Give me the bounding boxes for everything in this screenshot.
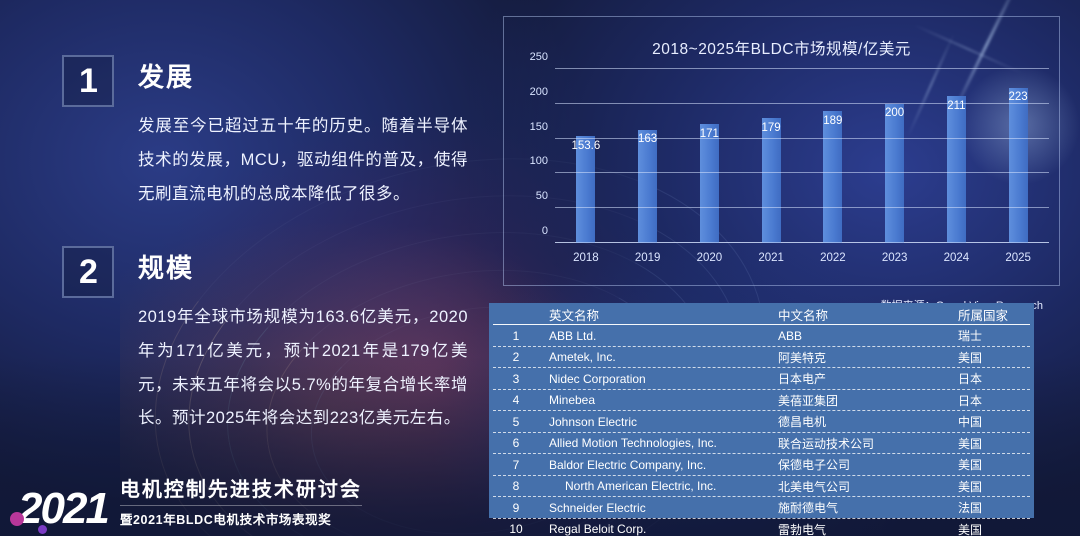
top-companies-table: 英文名称 中文名称 所属国家 1ABB Ltd.ABB瑞士2Ametek, In… bbox=[489, 303, 1034, 518]
cell-chinese-name: 联合运动技术公司 bbox=[778, 435, 958, 452]
chart-bar-group: 2002023 bbox=[867, 69, 921, 243]
content-column: 1 发展 发展至今已超过五十年的历史。随着半导体技术的发展，MCU，驱动组件的普… bbox=[0, 0, 480, 536]
chart-bar-group: 2232025 bbox=[991, 69, 1045, 243]
chart-y-tick-label: 100 bbox=[530, 155, 548, 167]
chart-y-tick-label: 0 bbox=[542, 225, 548, 237]
logo-year-text: 2021 bbox=[18, 484, 108, 533]
chart-title: 2018~2025年BLDC市场规模/亿美元 bbox=[504, 37, 1059, 59]
chart-bar bbox=[576, 136, 595, 243]
cell-chinese-name: 北美电气公司 bbox=[778, 478, 958, 495]
cell-country: 中国 bbox=[958, 413, 1028, 430]
table-row: 6Allied Motion Technologies, Inc.联合运动技术公… bbox=[489, 433, 1034, 455]
chart-bar-value-label: 163 bbox=[638, 133, 657, 145]
cell-no: 7 bbox=[495, 458, 537, 472]
chart-x-tick-label: 2018 bbox=[573, 252, 599, 264]
chart-bar-value-label: 179 bbox=[762, 122, 781, 134]
bldc-market-size-chart: 2018~2025年BLDC市场规模/亿美元 153.6201816320191… bbox=[503, 16, 1060, 286]
table-row: 1ABB Ltd.ABB瑞士 bbox=[489, 325, 1034, 347]
cell-chinese-name: 美蓓亚集团 bbox=[778, 392, 958, 409]
section-text-1: 发展至今已超过五十年的历史。随着半导体技术的发展，MCU，驱动组件的普及，使得无… bbox=[138, 110, 468, 211]
cell-country: 法国 bbox=[958, 499, 1028, 516]
chart-bar-value-label: 189 bbox=[823, 115, 842, 127]
cell-english-name: Ametek, Inc. bbox=[537, 350, 778, 364]
cell-country: 日本 bbox=[958, 370, 1028, 387]
chart-bar-group: 1712020 bbox=[682, 69, 736, 243]
cell-no: 8 bbox=[495, 479, 537, 493]
logo-year: 2021 bbox=[18, 488, 108, 530]
chart-bar-group: 1632019 bbox=[620, 69, 674, 243]
cell-no: 3 bbox=[495, 372, 537, 386]
chart-bar-group: 1892022 bbox=[806, 69, 860, 243]
chart-bar bbox=[947, 96, 966, 243]
chart-x-tick-label: 2022 bbox=[820, 252, 846, 264]
chart-x-tick-label: 2024 bbox=[944, 252, 970, 264]
logo-dot-icon-2 bbox=[38, 525, 47, 534]
table-row: 3Nidec Corporation日本电产日本 bbox=[489, 368, 1034, 390]
chart-x-tick-label: 2023 bbox=[882, 252, 908, 264]
cell-chinese-name: 保德电子公司 bbox=[778, 456, 958, 473]
cell-no: 9 bbox=[495, 501, 537, 515]
chart-x-tick-label: 2020 bbox=[697, 252, 723, 264]
cell-english-name: ABB Ltd. bbox=[537, 329, 778, 343]
cell-english-name: Allied Motion Technologies, Inc. bbox=[537, 436, 778, 450]
cell-chinese-name: 德昌电机 bbox=[778, 413, 958, 430]
chart-bar-group: 2112024 bbox=[929, 69, 983, 243]
cell-chinese-name: 雷勃电气 bbox=[778, 521, 958, 536]
chart-bar bbox=[823, 111, 842, 243]
section-block-1: 1 发展 发展至今已超过五十年的历史。随着半导体技术的发展，MCU，驱动组件的普… bbox=[62, 55, 468, 211]
chart-bar-value-label: 211 bbox=[947, 100, 965, 112]
cell-country: 日本 bbox=[958, 392, 1028, 409]
section-number-badge-1: 1 bbox=[62, 55, 114, 107]
table-row: 10Regal Beloit Corp.雷勃电气美国 bbox=[489, 519, 1034, 536]
cell-english-name: Minebea bbox=[537, 393, 778, 407]
cell-chinese-name: 施耐德电气 bbox=[778, 499, 958, 516]
cell-country: 美国 bbox=[958, 521, 1028, 536]
cell-country: 美国 bbox=[958, 349, 1028, 366]
chart-bar bbox=[700, 124, 719, 243]
table-row: 5Johnson Electric德昌电机中国 bbox=[489, 411, 1034, 433]
section-heading-1: 发展 bbox=[138, 57, 468, 94]
header-english-name: 英文名称 bbox=[537, 305, 778, 324]
table-row: 9Schneider Electric施耐德电气法国 bbox=[489, 497, 1034, 519]
section-text-2: 2019年全球市场规模为163.6亿美元，2020年为171亿美元，预计2021… bbox=[138, 301, 468, 436]
chart-gridline: 0 bbox=[555, 242, 1049, 243]
table-body: 1ABB Ltd.ABB瑞士2Ametek, Inc.阿美特克美国3Nidec … bbox=[489, 325, 1034, 536]
logo-subtitle: 暨2021年BLDC电机技术市场表现奖 bbox=[120, 505, 362, 528]
logo-text-block: 电机控制先进技术研讨会 暨2021年BLDC电机技术市场表现奖 bbox=[120, 478, 362, 530]
chart-y-tick-label: 50 bbox=[536, 190, 548, 202]
section-heading-2: 规模 bbox=[138, 248, 468, 285]
logo-title: 电机控制先进技术研讨会 bbox=[120, 478, 362, 502]
chart-bar bbox=[638, 130, 657, 243]
cell-english-name: Baldor Electric Company, Inc. bbox=[537, 458, 778, 472]
chart-bar bbox=[1009, 88, 1028, 243]
chart-gridline: 200 bbox=[555, 103, 1049, 104]
cell-no: 5 bbox=[495, 415, 537, 429]
section-block-2: 2 规模 2019年全球市场规模为163.6亿美元，2020年为171亿美元，预… bbox=[62, 246, 468, 436]
header-chinese-name: 中文名称 bbox=[778, 305, 958, 324]
chart-gridline: 50 bbox=[555, 207, 1049, 208]
chart-plot-area: 153.620181632019171202017920211892022200… bbox=[555, 69, 1049, 243]
cell-chinese-name: ABB bbox=[778, 329, 958, 343]
cell-no: 6 bbox=[495, 436, 537, 450]
cell-english-name: Johnson Electric bbox=[537, 415, 778, 429]
chart-y-tick-label: 250 bbox=[530, 51, 548, 63]
cell-english-name: Regal Beloit Corp. bbox=[537, 522, 778, 536]
table-header-row: 英文名称 中文名称 所属国家 bbox=[489, 303, 1034, 325]
cell-country: 瑞士 bbox=[958, 327, 1028, 344]
section-number-1: 1 bbox=[79, 64, 97, 98]
cell-english-name: North American Electric, Inc. bbox=[537, 479, 778, 493]
logo-dot-icon-1 bbox=[10, 512, 24, 526]
section-body-1: 发展 发展至今已超过五十年的历史。随着半导体技术的发展，MCU，驱动组件的普及，… bbox=[138, 55, 468, 211]
cell-country: 美国 bbox=[958, 478, 1028, 495]
cell-no: 2 bbox=[495, 350, 537, 364]
table-row: 4Minebea美蓓亚集团日本 bbox=[489, 390, 1034, 412]
chart-bar-group: 153.62018 bbox=[559, 69, 613, 243]
chart-gridline: 250 bbox=[555, 68, 1049, 69]
chart-bar bbox=[885, 104, 904, 243]
event-logo: 2021 电机控制先进技术研讨会 暨2021年BLDC电机技术市场表现奖 bbox=[18, 478, 362, 530]
chart-gridline: 100 bbox=[555, 172, 1049, 173]
cell-country: 美国 bbox=[958, 456, 1028, 473]
cell-chinese-name: 日本电产 bbox=[778, 370, 958, 387]
chart-y-tick-label: 150 bbox=[530, 121, 548, 133]
cell-no: 4 bbox=[495, 393, 537, 407]
cell-no: 10 bbox=[495, 522, 537, 536]
chart-x-tick-label: 2025 bbox=[1005, 252, 1031, 264]
chart-gridline: 150 bbox=[555, 138, 1049, 139]
chart-bars: 153.620181632019171202017920211892022200… bbox=[555, 69, 1049, 243]
chart-bar-value-label: 200 bbox=[885, 107, 904, 119]
chart-x-tick-label: 2019 bbox=[635, 252, 661, 264]
chart-bar-value-label: 223 bbox=[1009, 91, 1028, 103]
section-body-2: 规模 2019年全球市场规模为163.6亿美元，2020年为171亿美元，预计2… bbox=[138, 246, 468, 436]
cell-no: 1 bbox=[495, 329, 537, 343]
table-row: 2Ametek, Inc.阿美特克美国 bbox=[489, 347, 1034, 369]
cell-chinese-name: 阿美特克 bbox=[778, 349, 958, 366]
chart-bar-group: 1792021 bbox=[744, 69, 798, 243]
table-row: 8North American Electric, Inc.北美电气公司美国 bbox=[489, 476, 1034, 498]
chart-bar-value-label: 153.6 bbox=[571, 140, 600, 152]
chart-y-tick-label: 200 bbox=[530, 86, 548, 98]
cell-english-name: Schneider Electric bbox=[537, 501, 778, 515]
table-row: 7Baldor Electric Company, Inc.保德电子公司美国 bbox=[489, 454, 1034, 476]
header-country: 所属国家 bbox=[958, 305, 1028, 324]
cell-country: 美国 bbox=[958, 435, 1028, 452]
section-number-badge-2: 2 bbox=[62, 246, 114, 298]
chart-x-tick-label: 2021 bbox=[758, 252, 784, 264]
cell-english-name: Nidec Corporation bbox=[537, 372, 778, 386]
section-number-2: 2 bbox=[79, 255, 97, 289]
